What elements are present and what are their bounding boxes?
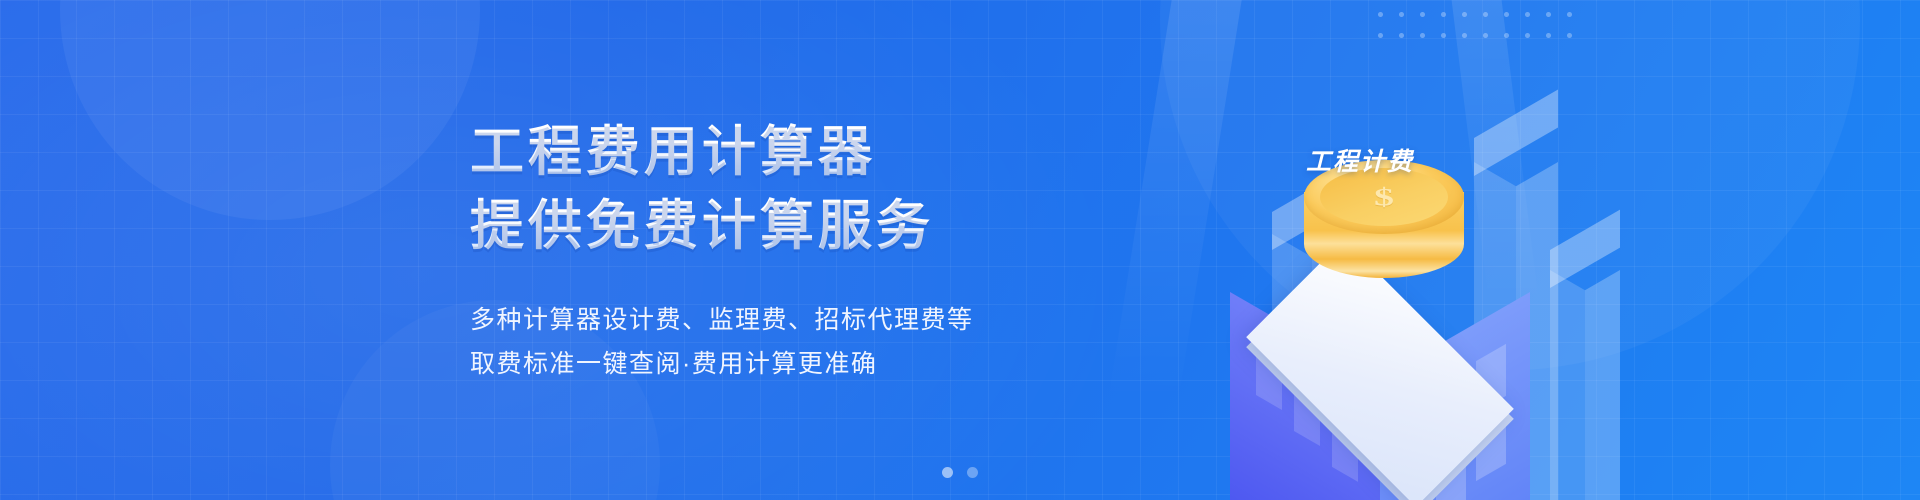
iso-bar-right-face: [1585, 270, 1620, 500]
banner-subtitle-line-2: 取费标准一键查阅·费用计算更准确: [470, 342, 1170, 386]
iso-bar-top-face: [1474, 90, 1558, 176]
gold-coin-stack-icon: $: [1304, 160, 1464, 310]
carousel-dot-1[interactable]: [942, 467, 953, 478]
dollar-sign-icon: $: [1304, 174, 1464, 220]
illustration-label: 工程计费: [1306, 142, 1414, 178]
hero-banner: 工程费用计算器 提供免费计算服务 多种计算器设计费、监理费、招标代理费等 取费标…: [0, 0, 1920, 500]
banner-subtitle-list: 多种计算器设计费、监理费、招标代理费等 取费标准一键查阅·费用计算更准确: [470, 298, 1170, 386]
carousel-dot-2[interactable]: [967, 467, 978, 478]
banner-subtitle-line-1: 多种计算器设计费、监理费、招标代理费等: [470, 298, 1170, 342]
banner-headline-line-1: 工程费用计算器: [470, 118, 1170, 186]
decorative-circle-top-left: [60, 0, 480, 220]
banner-copy-block: 工程费用计算器 提供免费计算服务 多种计算器设计费、监理费、招标代理费等 取费标…: [470, 118, 1170, 386]
isometric-illustration: $ 工程计费: [1080, 20, 1640, 500]
iso-bar-top-face: [1550, 210, 1620, 288]
carousel-indicator[interactable]: [0, 467, 1920, 478]
banner-headline-line-2: 提供免费计算服务: [470, 192, 1170, 260]
